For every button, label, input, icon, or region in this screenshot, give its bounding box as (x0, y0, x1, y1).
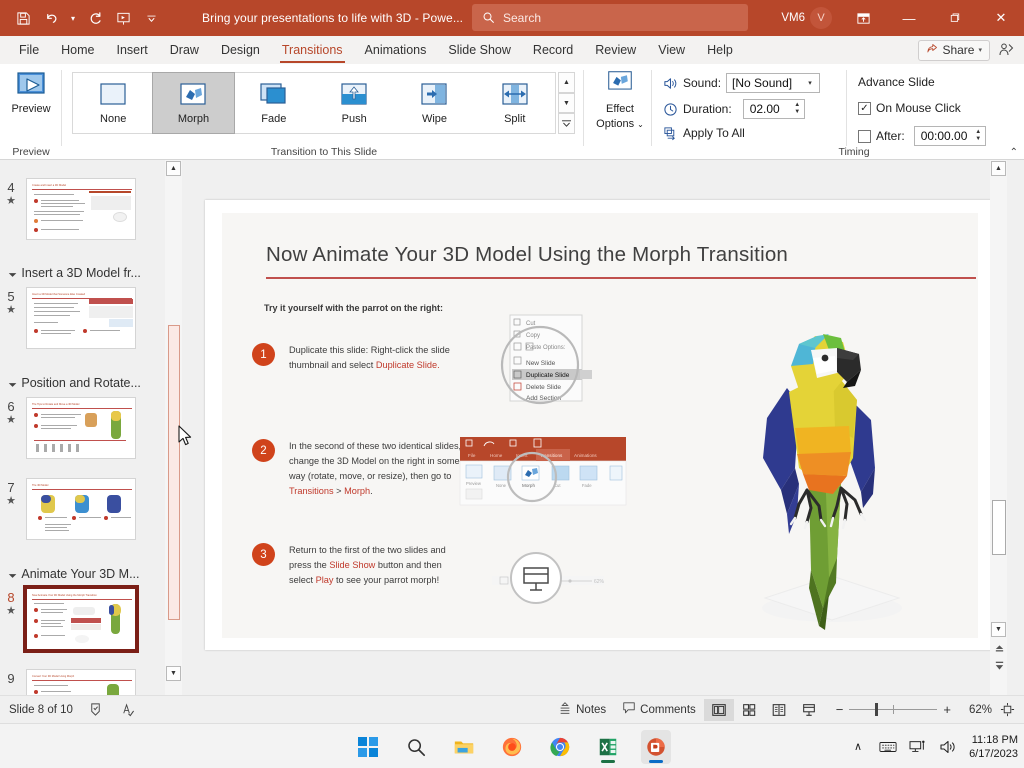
tab-record[interactable]: Record (522, 36, 584, 64)
sound-row: Sound: [No Sound] ▾ (662, 73, 820, 93)
svg-text:Animations: Animations (574, 453, 597, 458)
step-2: 2 In the second of these two identical s… (252, 439, 464, 499)
thumbnail-number-selected: 8★ (0, 588, 22, 619)
list-item[interactable]: 9 Convert Your 3D Model Using Morph (0, 669, 163, 695)
undo-icon[interactable] (38, 5, 64, 31)
clock[interactable]: 11:18 PM 6/17/2023 (969, 733, 1018, 761)
notes-label: Notes (576, 704, 606, 716)
tab-home[interactable]: Home (50, 36, 105, 64)
thumbnail-number: 9 (0, 669, 22, 686)
list-item[interactable]: 7★ The 3D Model (0, 478, 163, 540)
accessibility-icon[interactable] (87, 701, 105, 719)
gallery-scroll-up-button[interactable]: ▲ (558, 72, 575, 93)
svg-text:Home: Home (490, 453, 503, 458)
group-separator (61, 70, 62, 146)
svg-text:None: None (496, 483, 507, 488)
advance-slide-label: Advance Slide (858, 75, 935, 89)
svg-text:Delete Slide: Delete Slide (526, 384, 561, 391)
collapse-ribbon-button[interactable]: ⌃ (1010, 147, 1018, 158)
slide-title[interactable]: Now Animate Your 3D Model Using the Morp… (266, 243, 788, 267)
sound-dropdown[interactable]: [No Sound] ▾ (726, 73, 820, 93)
step-3-number: 3 (252, 543, 275, 566)
reading-view-button[interactable] (764, 699, 794, 721)
animation-star-icon: ★ (0, 494, 22, 509)
apply-to-all-label: Apply To All (683, 126, 745, 140)
list-item[interactable]: 8★ Now Animate Your 3D Model Using the M… (0, 588, 163, 650)
slide-show-button-screenshot: 62% (484, 548, 614, 608)
search-taskbar-icon[interactable] (401, 730, 431, 764)
animation-star-icon: ★ (0, 604, 22, 619)
customize-qat-icon[interactable] (138, 5, 164, 31)
title-underline (266, 277, 976, 279)
zoom-handle[interactable] (875, 703, 878, 716)
slide-sorter-view-button[interactable] (734, 699, 764, 721)
zoom-level[interactable]: 62% (963, 704, 998, 716)
parrot-3d-model[interactable] (737, 308, 927, 638)
system-tray: ∧ 11:18 PM 6/17/2023 (849, 724, 1018, 768)
firefox-icon[interactable] (497, 730, 527, 764)
section-title: Insert a 3D Model fr... (21, 266, 141, 280)
zoom-slider[interactable]: − + (824, 702, 963, 717)
ribbon-group-preview: Preview Preview (0, 64, 62, 160)
after-spinner[interactable]: 00:00.00 ▲▼ (914, 126, 986, 146)
slide-thumbnail-5[interactable]: Insert a 3D Model that Someone Else Crea… (26, 287, 136, 349)
thumbnail-number: 6★ (0, 397, 22, 428)
transition-gallery: None Morph Fade Push Wipe (72, 72, 556, 134)
transition-morph-label: Morph (178, 113, 209, 125)
comments-icon[interactable] (994, 38, 1018, 62)
sound-value: [No Sound] (732, 76, 803, 90)
tab-insert[interactable]: Insert (106, 36, 159, 64)
comments-label: Comments (640, 704, 696, 716)
workspace: 4★ Create and Insert a 3D Model (0, 160, 1024, 695)
search-placeholder: Search (503, 11, 541, 25)
close-button[interactable]: ✕ (978, 0, 1024, 36)
section-title: Position and Rotate... (21, 376, 141, 390)
tab-file[interactable]: File (8, 36, 50, 64)
transition-wipe-label: Wipe (422, 113, 447, 125)
slide-background: Now Animate Your 3D Model Using the Morp… (222, 213, 978, 638)
ribbon-group-transition-to-this-slide: None Morph Fade Push Wipe (64, 64, 584, 160)
search-icon (482, 11, 495, 24)
clock-icon (662, 101, 678, 117)
slide-vertical-scrollbar[interactable]: ▲ ▼ (990, 160, 1007, 695)
vertical-scrollbar-thumb[interactable] (992, 500, 1006, 555)
animation-star-icon: ★ (0, 413, 22, 428)
slide-thumbnail-7[interactable]: The 3D Model (26, 478, 136, 540)
zoom-in-button[interactable]: + (937, 702, 957, 717)
tab-design[interactable]: Design (210, 36, 271, 64)
chrome-icon[interactable] (545, 730, 575, 764)
transition-morph[interactable]: Morph (153, 73, 233, 133)
powerpoint-icon[interactable] (641, 730, 671, 764)
restore-button[interactable] (932, 0, 978, 36)
on-mouse-click-row[interactable]: ✓ On Mouse Click (858, 101, 961, 115)
chevron-down-icon: ▾ (978, 46, 982, 54)
duration-row: Duration: 02.00 ▲▼ (662, 99, 805, 119)
share-label: Share (942, 43, 974, 57)
ribbon-group-effect-options: Effect Options ⌄ (586, 64, 652, 160)
transition-wipe[interactable]: Wipe (394, 73, 474, 133)
avatar: V (810, 7, 832, 29)
redo-icon[interactable] (82, 5, 108, 31)
after-checkbox[interactable] (858, 130, 871, 143)
section-title: Animate Your 3D M... (21, 567, 139, 581)
show-hidden-icons[interactable]: ∧ (849, 738, 867, 756)
after-row[interactable]: After: 00:00.00 ▲▼ (858, 126, 986, 146)
account-chip[interactable]: VM6 V (781, 7, 832, 29)
start-presentation-icon[interactable] (110, 5, 136, 31)
svg-text:Morph: Morph (522, 483, 535, 488)
slide-show-view-button[interactable] (794, 699, 824, 721)
slide-thumbnail-9[interactable]: Convert Your 3D Model Using Morph (26, 669, 136, 695)
section-header-insert-3d-model[interactable]: ◢ Insert a 3D Model fr... (0, 264, 163, 282)
slide-subtitle[interactable]: Try it yourself with the parrot on the r… (264, 303, 443, 313)
svg-text:Duplicate Slide: Duplicate Slide (526, 372, 570, 379)
after-value: 00:00.00 (921, 129, 972, 143)
step-2-number: 2 (252, 439, 275, 462)
thumbnail-number: 4★ (0, 178, 22, 209)
list-item[interactable]: 4★ Create and Insert a 3D Model (0, 178, 163, 240)
timing-group-label: Timing (804, 146, 904, 158)
transition-push-label: Push (342, 113, 367, 125)
start-button[interactable] (353, 730, 383, 764)
context-menu-screenshot: Cut Copy Paste Options: New Slide Dupli (492, 313, 602, 413)
chevron-down-icon: ▾ (803, 79, 817, 87)
preview-button[interactable]: Preview (5, 70, 57, 136)
gallery-more-button[interactable] (558, 113, 575, 134)
quick-access-toolbar: ▾ (0, 5, 164, 31)
status-bar: Slide 8 of 10 Notes Comments (0, 695, 1024, 723)
app-running-indicator (649, 760, 663, 763)
section-header-position-and-rotate[interactable]: ◢ Position and Rotate... (0, 374, 163, 392)
transition-none[interactable]: None (73, 73, 153, 133)
thumbnail-number: 5★ (0, 287, 22, 318)
list-item[interactable]: 6★ The Tips to Rotate and Move a 3D Mode… (0, 397, 163, 459)
slide-thumbnail-8-selected[interactable]: Now Animate Your 3D Model Using the Morp… (26, 588, 136, 650)
chevron-down-icon: ⌄ (637, 120, 644, 129)
transition-push[interactable]: Push (314, 73, 394, 133)
transition-split[interactable]: Split (475, 73, 555, 133)
excel-icon[interactable] (593, 730, 623, 764)
animation-star-icon: ★ (0, 303, 22, 318)
network-icon[interactable] (909, 738, 927, 756)
apply-to-all-button[interactable]: Apply To All (662, 125, 745, 141)
preview-group-label: Preview (0, 146, 62, 158)
clock-time: 11:18 PM (969, 733, 1018, 747)
thumbnail-scroll-down-button[interactable]: ▼ (166, 666, 181, 681)
share-button[interactable]: Share ▾ (918, 40, 990, 61)
notes-button[interactable]: Notes (550, 699, 614, 721)
transition-fade-label: Fade (261, 113, 286, 125)
spelling-icon[interactable] (119, 701, 137, 719)
svg-text:Preview: Preview (466, 481, 482, 486)
file-explorer-icon[interactable] (449, 730, 479, 764)
ribbon-group-timing: Sound: [No Sound] ▾ Duration: 02.00 ▲▼ (654, 64, 1024, 160)
duration-value: 02.00 (750, 102, 791, 116)
group-separator (846, 70, 847, 146)
keyboard-layout-icon[interactable] (879, 738, 897, 756)
animation-star-icon: ★ (0, 194, 22, 209)
thumbnail-scrollbar-thumb[interactable] (168, 325, 180, 620)
tab-help[interactable]: Help (696, 36, 744, 64)
taskbar: ∧ 11:18 PM 6/17/2023 (0, 723, 1024, 768)
slide-thumbnail-4[interactable]: Create and Insert a 3D Model (26, 178, 136, 240)
next-slide-button[interactable] (993, 660, 1005, 671)
svg-text:File: File (468, 453, 476, 458)
gallery-scroll-down-button[interactable]: ▼ (558, 93, 575, 114)
on-mouse-click-label: On Mouse Click (876, 101, 961, 115)
step-1-number: 1 (252, 343, 275, 366)
zoom-out-button[interactable]: − (830, 702, 850, 717)
step-3-text[interactable]: Return to the first of the two slides an… (289, 543, 464, 588)
section-header-animate-3d-model[interactable]: ◢ Animate Your 3D M... (0, 565, 163, 583)
duration-spin-buttons[interactable]: ▲▼ (791, 102, 804, 116)
scroll-up-button[interactable]: ▲ (991, 161, 1006, 176)
chevron-collapse-icon[interactable]: ◢ (8, 268, 17, 277)
slide-thumbnail-6[interactable]: The Tips to Rotate and Move a 3D Model (26, 397, 136, 459)
svg-text:62%: 62% (594, 579, 605, 585)
svg-text:Fade: Fade (582, 483, 592, 488)
scroll-down-button[interactable]: ▼ (991, 622, 1006, 637)
chevron-collapse-icon[interactable]: ◢ (8, 569, 17, 578)
on-mouse-click-checkbox[interactable]: ✓ (858, 102, 871, 115)
group-separator (583, 70, 584, 146)
effect-options-label-line2: Options ⌄ (596, 118, 644, 131)
after-spin-buttons[interactable]: ▲▼ (972, 129, 985, 143)
step-3: 3 Return to the first of the two slides … (252, 543, 464, 588)
tab-animations[interactable]: Animations (354, 36, 438, 64)
undo-dropdown-caret-icon[interactable]: ▾ (66, 5, 80, 31)
effect-options-icon (605, 70, 635, 101)
slide-counter[interactable]: Slide 8 of 10 (9, 704, 73, 716)
zoom-track[interactable] (849, 709, 937, 710)
normal-view-button[interactable] (704, 699, 734, 721)
ribbon: Preview Preview None Morph Fade (0, 64, 1024, 160)
ribbon-tabs: File Home Insert Draw Design Transitions… (0, 36, 1024, 64)
account-name: VM6 (781, 12, 805, 24)
fit-slide-icon[interactable] (998, 701, 1016, 719)
sound-icon (662, 75, 678, 91)
slide-thumbnail-pane: 4★ Create and Insert a 3D Model (0, 160, 163, 695)
thumbnail-number: 7★ (0, 478, 22, 509)
thumbnail-scroll-up-button[interactable]: ▲ (166, 161, 181, 176)
slide-canvas-pane: Now Animate Your 3D Model Using the Morp… (183, 160, 1007, 695)
svg-text:Cut: Cut (526, 321, 536, 327)
document-title: Bring your presentations to life with 3D… (202, 11, 463, 25)
app-running-indicator (601, 760, 615, 763)
transition-none-label: None (100, 113, 126, 125)
after-label: After: (876, 129, 905, 143)
effect-options-button[interactable]: Effect Options ⌄ (592, 70, 648, 140)
share-icon (926, 43, 938, 58)
mouse-cursor (178, 425, 192, 451)
tab-review[interactable]: Review (584, 36, 647, 64)
gallery-scroll-buttons: ▲ ▼ (558, 72, 575, 134)
tab-view[interactable]: View (647, 36, 696, 64)
save-icon[interactable] (10, 5, 36, 31)
tab-transitions[interactable]: Transitions (271, 36, 354, 64)
duration-label: Duration: (683, 102, 732, 116)
tab-draw[interactable]: Draw (159, 36, 210, 64)
zoom-tick (893, 705, 894, 714)
transition-fade[interactable]: Fade (234, 73, 314, 133)
svg-text:New Slide: New Slide (526, 360, 556, 367)
comments-button[interactable]: Comments (614, 699, 704, 721)
minimize-button[interactable]: — (886, 0, 932, 36)
transition-group-label: Transition to This Slide (64, 146, 584, 158)
list-item[interactable]: 5★ Insert a 3D Model that Someone Else C… (0, 287, 163, 349)
svg-text:Copy: Copy (526, 333, 540, 339)
preview-button-label: Preview (11, 103, 50, 115)
notes-icon (558, 701, 572, 718)
window-controls-group: VM6 V — ✕ (781, 0, 1024, 36)
effect-options-label-line1: Effect (606, 103, 634, 116)
transitions-ribbon-screenshot: File Home Insert Transitions Animations … (458, 435, 628, 510)
slide-surface[interactable]: Now Animate Your 3D Model Using the Morp… (205, 200, 995, 650)
clock-date: 6/17/2023 (969, 747, 1018, 761)
duration-spinner[interactable]: 02.00 ▲▼ (743, 99, 805, 119)
preview-icon (14, 70, 48, 100)
previous-slide-button[interactable] (993, 643, 1005, 654)
title-bar: ▾ Bring your presentations to life with … (0, 0, 1024, 36)
transition-split-label: Split (504, 113, 525, 125)
tab-slide-show[interactable]: Slide Show (437, 36, 522, 64)
apply-to-all-icon (662, 125, 678, 141)
sound-label: Sound: (683, 76, 721, 90)
comment-bubble-icon (622, 701, 636, 718)
step-2-text[interactable]: In the second of these two identical sli… (289, 439, 464, 499)
step-1-text[interactable]: Duplicate this slide: Right-click the sl… (289, 343, 464, 373)
volume-icon[interactable] (939, 738, 957, 756)
step-1: 1 Duplicate this slide: Right-click the … (252, 343, 464, 373)
chevron-collapse-icon[interactable]: ◢ (8, 378, 17, 387)
group-separator (651, 70, 652, 146)
search-box[interactable]: Search (472, 4, 748, 31)
ribbon-display-options-icon[interactable] (840, 0, 886, 36)
